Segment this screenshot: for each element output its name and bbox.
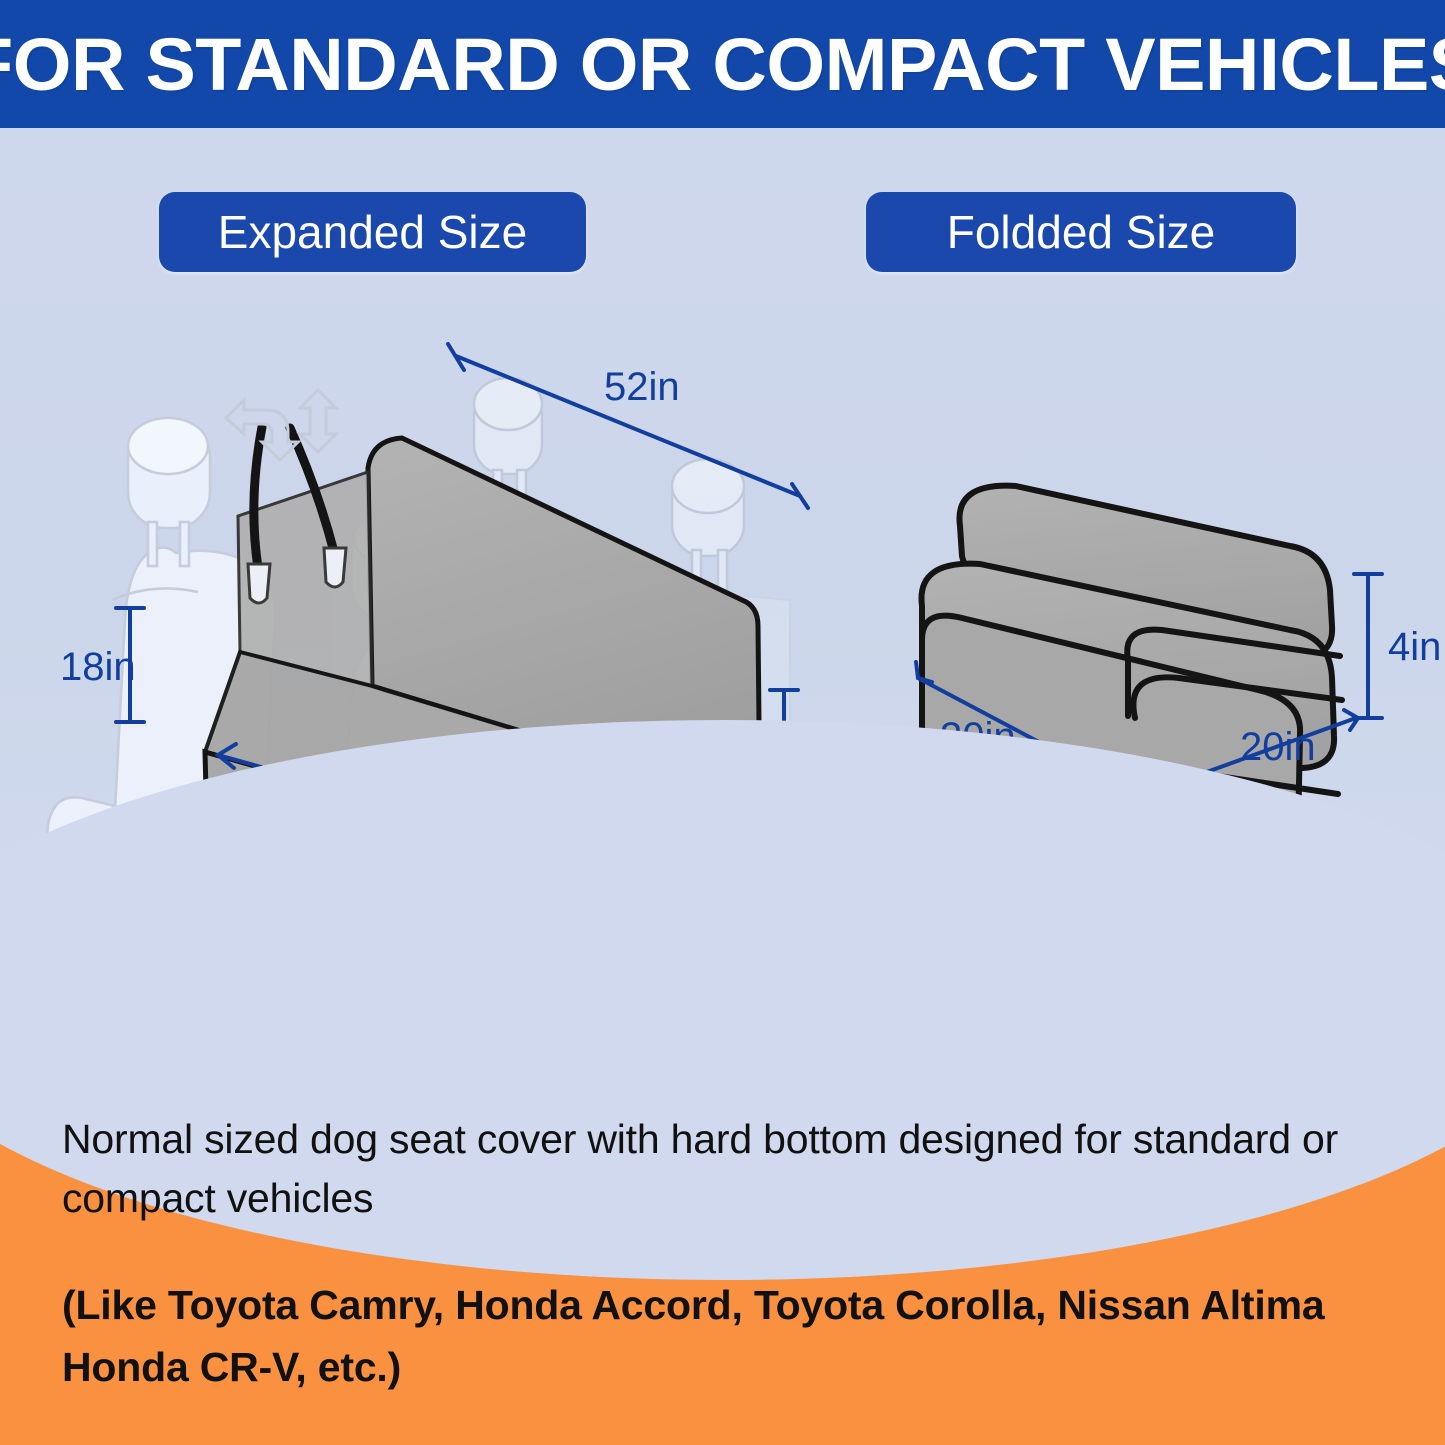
header-banner: FOR STANDARD OR COMPACT VEHICLES: [0, 0, 1445, 128]
page-title: FOR STANDARD OR COMPACT VEHICLES: [0, 22, 1445, 107]
label-expanded-size-text: Expanded Size: [218, 205, 527, 259]
label-folded-size-text: Foldded Size: [947, 205, 1216, 259]
hook-clip-right: [324, 548, 346, 587]
ghost-front-left-headrest: [128, 418, 210, 566]
label-folded-size[interactable]: Foldded Size: [866, 192, 1296, 272]
dimension-label-18in: 18in: [60, 645, 136, 689]
dimension-label-52in: 52in: [604, 365, 680, 409]
label-expanded-size[interactable]: Expanded Size: [159, 192, 586, 272]
dimension-label-20in: 20in: [1240, 725, 1316, 769]
description-paragraph: Normal sized dog seat cover with hard bo…: [62, 1110, 1412, 1229]
dimension-4in: [1354, 574, 1382, 718]
headrest-hook-ghost-icon: [226, 390, 336, 460]
hook-clip-left: [248, 564, 270, 603]
dimension-label-4in: 4in: [1388, 625, 1441, 669]
infographic-page: FOR STANDARD OR COMPACT VEHICLES Expande…: [0, 0, 1445, 1445]
compatible-models-text: (Like Toyota Camry, Honda Accord, Toyota…: [62, 1275, 1432, 1398]
